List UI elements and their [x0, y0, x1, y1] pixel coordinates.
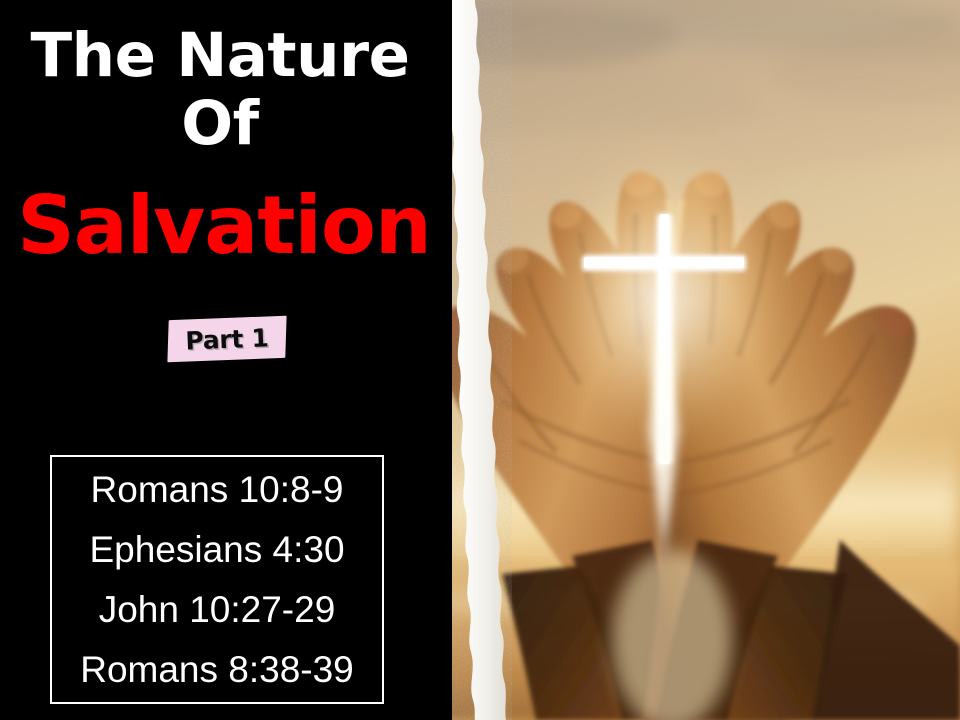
scripture-reference: Romans 8:38-39 [80, 640, 354, 700]
title-panel: The Nature Of Salvation Part 1 Romans 10… [0, 0, 452, 720]
slide-title: The Nature Of [0, 22, 440, 158]
title-accent-word: Salvation [0, 183, 448, 269]
title-line-1: The Nature [0, 22, 440, 90]
sunset-hands-photo [440, 0, 960, 720]
scripture-reference: Ephesians 4:30 [89, 520, 344, 580]
scripture-reference: John 10:27-29 [99, 580, 336, 640]
photo-artwork [440, 0, 960, 720]
scripture-reference: Romans 10:8-9 [91, 460, 344, 520]
presentation-slide: The Nature Of Salvation Part 1 Romans 10… [0, 0, 960, 720]
title-line-2: Of [0, 90, 440, 158]
scripture-reference-box: Romans 10:8-9 Ephesians 4:30 John 10:27-… [50, 455, 384, 704]
part-badge-label: Part 1 [167, 317, 287, 363]
part-badge: Part 1 [168, 318, 292, 368]
